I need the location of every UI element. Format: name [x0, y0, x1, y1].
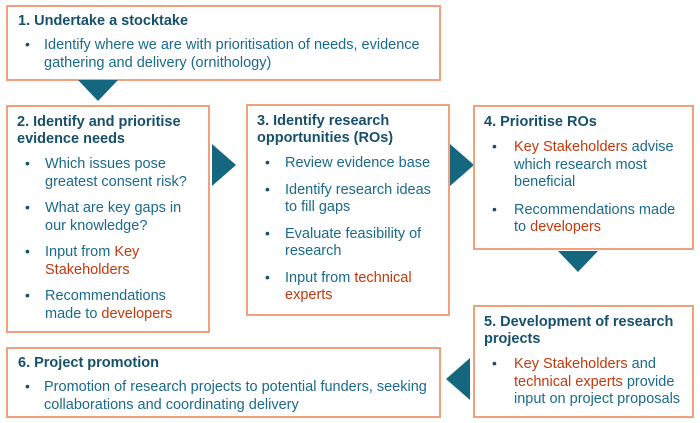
bullet-text: Promotion of research projects to potent…: [44, 379, 427, 413]
flowchart-canvas: 1. Undertake a stocktake Identify where …: [0, 0, 700, 423]
bullet-item: Identify where we are with prioritisatio…: [18, 37, 431, 72]
highlighted-term: developers: [530, 219, 601, 235]
box-6-bullet-list: Promotion of research projects to potent…: [18, 379, 431, 414]
bullet-item: Which issues pose greatest consent risk?: [17, 156, 202, 191]
bullet-item: Identify research ideas to fill gaps: [257, 182, 442, 217]
box-2-content: 2. Identify and prioritise evidence need…: [8, 107, 208, 323]
bullet-item: Recommendations made to developers: [17, 288, 202, 323]
bullet-text: Identify where we are with prioritisatio…: [44, 37, 420, 71]
bullet-item: What are key gaps in our knowledge?: [17, 200, 202, 235]
box-5-bullet-list: Key Stakeholders and technical experts p…: [484, 356, 686, 409]
process-step-box-3: 3. Identify research opportunities (ROs)…: [246, 104, 450, 316]
box-3-bullet-list: Review evidence baseIdentify research id…: [257, 155, 442, 305]
process-step-box-6: 6. Project promotion Promotion of resear…: [6, 347, 441, 418]
box-3-title: 3. Identify research opportunities (ROs): [257, 113, 442, 147]
bullet-text: Evaluate feasibility of research: [285, 226, 421, 260]
highlighted-term: Key Stakeholders: [514, 139, 628, 155]
box-1-title: 1. Undertake a stocktake: [18, 13, 431, 30]
bullet-item: Input from Key Stakeholders: [17, 244, 202, 279]
bullet-item: Evaluate feasibility of research: [257, 226, 442, 261]
box-1-content: 1. Undertake a stocktake Identify where …: [8, 7, 439, 72]
process-step-box-4: 4. Prioritise ROs Key Stakeholders advis…: [473, 105, 694, 250]
bullet-text: Review evidence base: [285, 155, 430, 171]
bullet-item: Promotion of research projects to potent…: [18, 379, 431, 414]
box-5-title: 5. Development of research projects: [484, 314, 686, 348]
bullet-text: Which issues pose greatest consent risk?: [45, 156, 187, 190]
bullet-item: Input from technical experts: [257, 270, 442, 305]
box-5-content: 5. Development of research projects Key …: [475, 307, 692, 409]
arrow-left-icon-step5-to-step6: [446, 358, 470, 400]
process-step-box-2: 2. Identify and prioritise evidence need…: [6, 105, 210, 333]
process-step-box-1: 1. Undertake a stocktake Identify where …: [6, 5, 441, 81]
box-2-title: 2. Identify and prioritise evidence need…: [17, 114, 202, 148]
bullet-text: and: [628, 356, 656, 372]
arrow-right-icon-step3-to-step4: [450, 144, 474, 186]
bullet-item: Review evidence base: [257, 155, 442, 173]
box-6-title: 6. Project promotion: [18, 355, 431, 372]
process-step-box-5: 5. Development of research projects Key …: [473, 305, 694, 418]
bullet-text: Identify research ideas to fill gaps: [285, 182, 431, 216]
box-4-content: 4. Prioritise ROs Key Stakeholders advis…: [475, 107, 692, 237]
arrow-down-icon-step1-to-step2: [78, 80, 118, 101]
arrow-right-icon-step2-to-step3: [212, 144, 236, 186]
box-4-title: 4. Prioritise ROs: [484, 114, 686, 131]
bullet-text: Input from: [45, 244, 114, 260]
bullet-text: Input from: [285, 270, 354, 286]
arrow-down-icon-step4-to-step5: [558, 251, 598, 272]
box-3-content: 3. Identify research opportunities (ROs)…: [248, 106, 448, 305]
box-4-bullet-list: Key Stakeholders advise which research m…: [484, 139, 686, 237]
bullet-item: Key Stakeholders and technical experts p…: [484, 356, 686, 409]
bullet-item: Recommendations made to developers: [484, 202, 686, 237]
highlighted-term: Key Stakeholders: [514, 356, 628, 372]
highlighted-term: developers: [101, 306, 172, 322]
bullet-text: What are key gaps in our knowledge?: [45, 200, 181, 234]
box-1-bullet-list: Identify where we are with prioritisatio…: [18, 37, 431, 72]
box-2-bullet-list: Which issues pose greatest consent risk?…: [17, 156, 202, 323]
box-6-content: 6. Project promotion Promotion of resear…: [8, 349, 439, 414]
bullet-item: Key Stakeholders advise which research m…: [484, 139, 686, 192]
highlighted-term: technical experts: [514, 374, 623, 390]
